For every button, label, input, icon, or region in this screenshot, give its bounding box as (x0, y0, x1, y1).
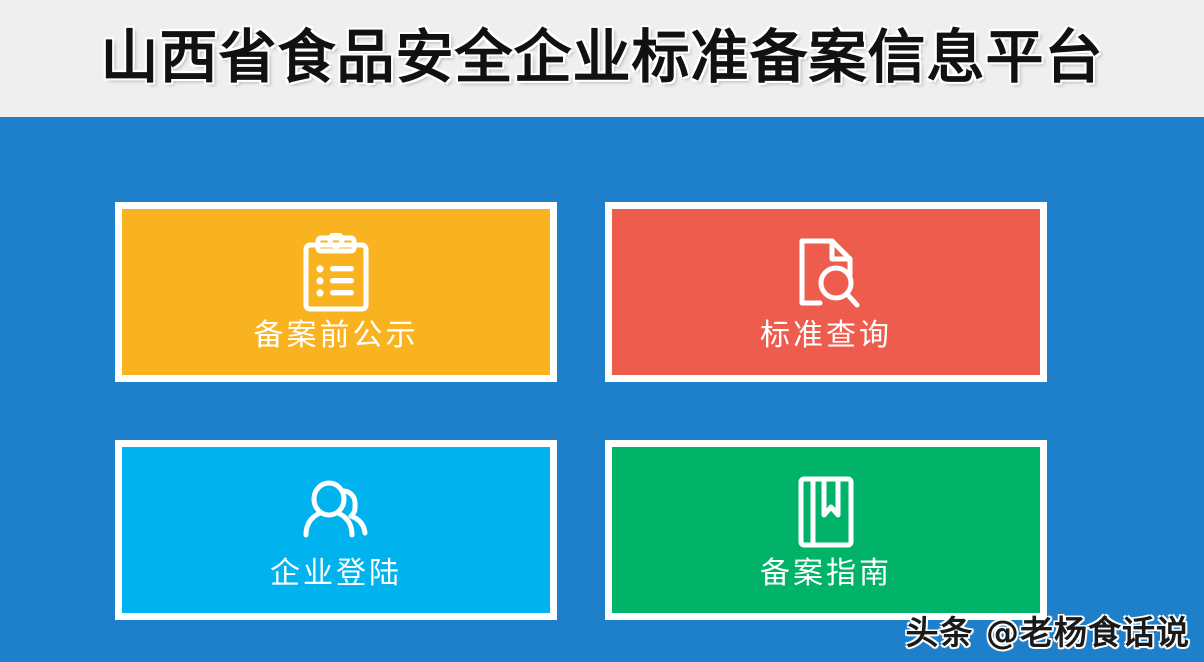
tile-enterprise-login[interactable]: 企业登陆 (115, 440, 557, 620)
tile-grid: 备案前公示 标准查询 (115, 202, 1047, 620)
tile-label: 备案前公示 (254, 321, 419, 351)
tile-filing-guide[interactable]: 备案指南 (605, 440, 1047, 620)
header-band: 山西省食品安全企业标准备案信息平台 (0, 0, 1204, 117)
tile-label: 企业登陆 (270, 559, 402, 589)
tile-standard-query[interactable]: 标准查询 (605, 202, 1047, 382)
tile-label: 标准查询 (760, 321, 892, 351)
book-bookmark-icon (788, 471, 864, 553)
tile-pre-filing-publicity[interactable]: 备案前公示 (115, 202, 557, 382)
page-root: 山西省食品安全企业标准备案信息平台 备案前公示 (0, 0, 1204, 662)
page-title: 山西省食品安全企业标准备案信息平台 (100, 28, 1103, 90)
clipboard-list-icon (298, 233, 374, 315)
users-icon (298, 471, 374, 553)
document-search-icon (788, 233, 864, 315)
tile-label: 备案指南 (760, 559, 892, 589)
